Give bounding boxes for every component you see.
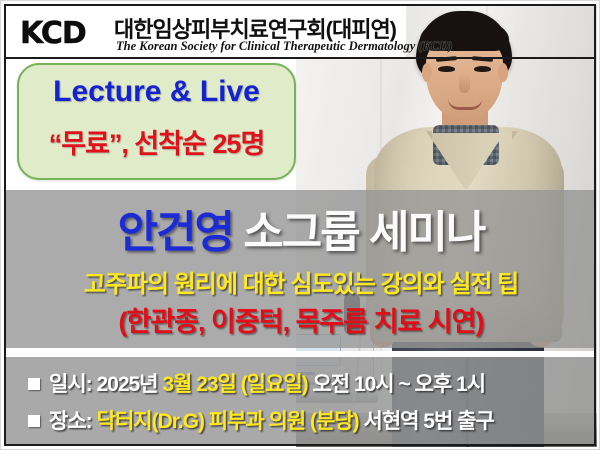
place-suffix: 서현역 5번 출구 xyxy=(359,410,494,433)
promo-lecture-live-label: Lecture & Live xyxy=(19,75,294,109)
date-label: 일시: xyxy=(49,373,96,396)
seminar-poster: KCD 대한임상피부치료연구회(대피연) The Korean Society … xyxy=(0,0,600,450)
left-ear xyxy=(422,63,432,82)
info-band: 일시: 2025년 3월 23일 (일요일) 오전 10시 ~ 오후 1시 장소… xyxy=(6,357,596,445)
info-row-date: 일시: 2025년 3월 23일 (일요일) 오전 10시 ~ 오후 1시 xyxy=(28,368,586,398)
kcd-monogram-icon: KCD xyxy=(20,16,86,51)
place-highlight: 닥터지(Dr.G) 피부과 의원 (분당) xyxy=(97,410,359,433)
nose xyxy=(459,73,470,93)
subtitle-yellow: 고주파의 원리에 대한 심도있는 강의와 실전 팁 xyxy=(6,264,596,299)
right-ear xyxy=(498,63,508,82)
footer-divider xyxy=(6,351,596,357)
title-band: 안건영 소그룹 세미나 고주파의 원리에 대한 심도있는 강의와 실전 팁 (한… xyxy=(6,190,596,348)
speaker-name: 안건영 xyxy=(118,208,233,257)
left-eye xyxy=(438,66,455,72)
square-bullet-icon xyxy=(28,378,40,390)
date-prefix: 2025년 xyxy=(96,373,162,396)
right-eye xyxy=(474,66,491,72)
subtitle-red: (한관종, 이중턱, 목주름 치료 시연) xyxy=(6,300,596,339)
place-label: 장소: xyxy=(49,410,92,433)
promo-free-seats-label: “무료”, 선착순 25명 xyxy=(19,122,294,161)
organization-name-english: The Korean Society for Clinical Therapeu… xyxy=(116,39,452,54)
date-suffix: 오전 10시 ~ 오후 1시 xyxy=(308,373,485,396)
page-title: 안건영 소그룹 세미나 xyxy=(6,196,596,260)
square-bullet-icon xyxy=(28,415,40,427)
date-highlight: 3월 23일 (일요일) xyxy=(162,373,307,396)
info-row-place: 장소: 닥터지(Dr.G) 피부과 의원 (분당) 서현역 5번 출구 xyxy=(28,405,586,435)
header-divider xyxy=(6,57,596,59)
promo-box: Lecture & Live “무료”, 선착순 25명 xyxy=(17,63,296,180)
poster-header: KCD 대한임상피부치료연구회(대피연) The Korean Society … xyxy=(6,6,596,58)
logo-text: KCD xyxy=(20,16,86,51)
event-type-label: 소그룹 세미나 xyxy=(243,208,484,257)
